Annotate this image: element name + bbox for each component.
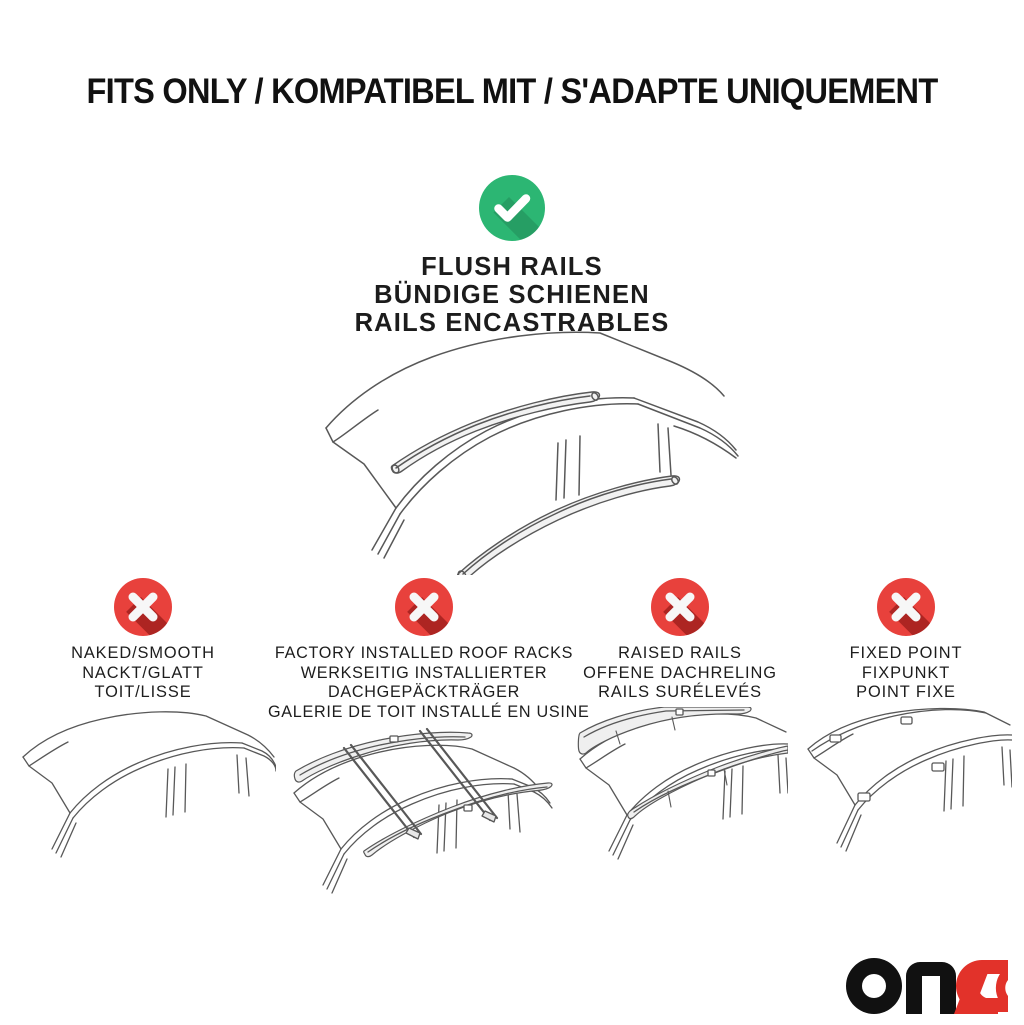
x-circle-icon [651,578,709,636]
incompatible-label-en: FACTORY INSTALLED ROOF RACKS [268,644,580,664]
incompatible-labels: FACTORY INSTALLED ROOF RACKS WERKSEITIG … [268,644,580,722]
incompatible-item-raised-rails: RAISED RAILS OFFENE DACHRELING RAILS SUR… [572,575,788,703]
omac-logo [846,958,1008,1014]
compatible-labels: FLUSH RAILS BÜNDIGE SCHIENEN RAILS ENCAS… [0,253,1024,337]
car-roof-with-factory-crossbars-illustration [268,727,580,912]
incompatible-label-fr: TOIT/LISSE [10,683,276,703]
incompatible-labels: NAKED/SMOOTH NACKT/GLATT TOIT/LISSE [10,644,276,703]
incompatible-label-de-1: WERKSEITIG INSTALLIERTER [268,664,580,684]
incompatible-label-en: FIXED POINT [800,644,1012,664]
incompatible-labels: FIXED POINT FIXPUNKT POINT FIXE [800,644,1012,703]
incompatible-item-naked-smooth: NAKED/SMOOTH NACKT/GLATT TOIT/LISSE [10,575,276,703]
x-circle-icon [114,578,172,636]
compatible-label-de: BÜNDIGE SCHIENEN [0,281,1024,309]
car-roof-bare-smooth-illustration [10,707,276,892]
car-roof-with-raised-rails-illustration [572,707,788,892]
incompatible-label-en: NAKED/SMOOTH [10,644,276,664]
compatible-label-en: FLUSH RAILS [0,253,1024,281]
car-roof-with-flush-rails-illustration [300,330,740,575]
incompatible-label-fr: RAILS SURÉLEVÉS [572,683,788,703]
logo-letter-o [846,958,902,1014]
incompatible-label-en: RAISED RAILS [572,644,788,664]
incompatible-label-de: OFFENE DACHRELING [572,664,788,684]
incompatible-label-de-2: DACHGEPÄCKTRÄGER [268,683,580,703]
incompatible-item-fixed-point: FIXED POINT FIXPUNKT POINT FIXE [800,575,1012,703]
check-circle-icon [479,175,545,241]
incompatible-label-fr: POINT FIXE [800,683,1012,703]
car-roof-with-fixed-points-illustration [800,707,1012,892]
incompatible-label-de: NACKT/GLATT [10,664,276,684]
x-circle-icon [395,578,453,636]
page-title: FITS ONLY / KOMPATIBEL MIT / S'ADAPTE UN… [36,72,988,112]
compatible-section: FLUSH RAILS BÜNDIGE SCHIENEN RAILS ENCAS… [0,175,1024,337]
incompatible-item-factory-roof-racks: FACTORY INSTALLED ROOF RACKS WERKSEITIG … [268,575,580,722]
x-circle-icon [877,578,935,636]
incompatible-labels: RAISED RAILS OFFENE DACHRELING RAILS SUR… [572,644,788,703]
logo-letter-m [906,962,956,1014]
incompatible-label-de: FIXPUNKT [800,664,1012,684]
incompatible-label-fr: GALERIE DE TOIT INSTALLÉ EN USINE [268,703,580,723]
